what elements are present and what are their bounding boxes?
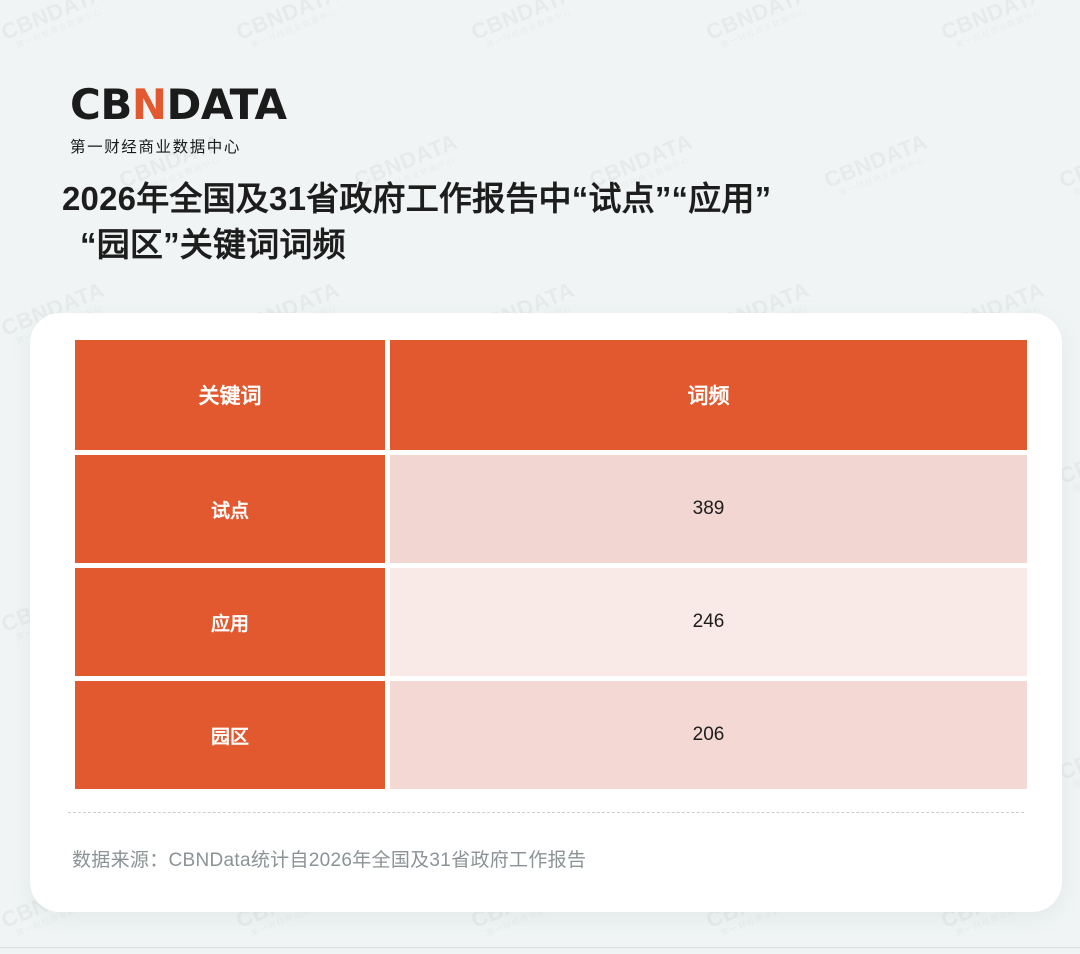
cbndata-logo: CBNDATA 第一财经商业数据中心 <box>70 84 287 157</box>
row-keyword-1: 应用 <box>75 568 385 676</box>
logo-prefix: CB <box>70 84 132 126</box>
page-title-line-2: “园区”关键词词频 <box>62 222 1042 268</box>
infographic-page: CBNDATA 第一财经商业数据中心 2026年全国及31省政府工作报告中“试点… <box>0 0 1080 954</box>
page-title: 2026年全国及31省政府工作报告中“试点”“应用” “园区”关键词词频 <box>62 176 1042 267</box>
row-frequency-1: 246 <box>390 568 1027 676</box>
bottom-rule <box>0 947 1080 948</box>
table-row[interactable]: 园区 206 <box>75 681 1027 789</box>
row-keyword-2: 园区 <box>75 681 385 789</box>
row-frequency-0: 389 <box>390 455 1027 563</box>
row-keyword-0: 试点 <box>75 455 385 563</box>
data-source-note: 数据来源：CBNData统计自2026年全国及31省政府工作报告 <box>72 845 586 872</box>
table-row[interactable]: 试点 389 <box>75 455 1027 563</box>
column-header-keyword: 关键词 <box>75 340 385 450</box>
logo-subtitle: 第一财经商业数据中心 <box>70 135 287 157</box>
footer-divider <box>68 812 1024 813</box>
row-frequency-2: 206 <box>390 681 1027 789</box>
logo-accent-letter: N <box>132 84 167 126</box>
keyword-frequency-table: 关键词 词频 试点 389 应用 246 园区 206 <box>75 340 1027 789</box>
page-title-line-1: 2026年全国及31省政府工作报告中“试点”“应用” <box>62 180 771 217</box>
table-row[interactable]: 应用 246 <box>75 568 1027 676</box>
logo-suffix: DATA <box>167 84 287 126</box>
table-header-row: 关键词 词频 <box>75 340 1027 450</box>
logo-wordmark: CBNDATA <box>70 84 287 126</box>
column-header-frequency: 词频 <box>390 340 1027 450</box>
